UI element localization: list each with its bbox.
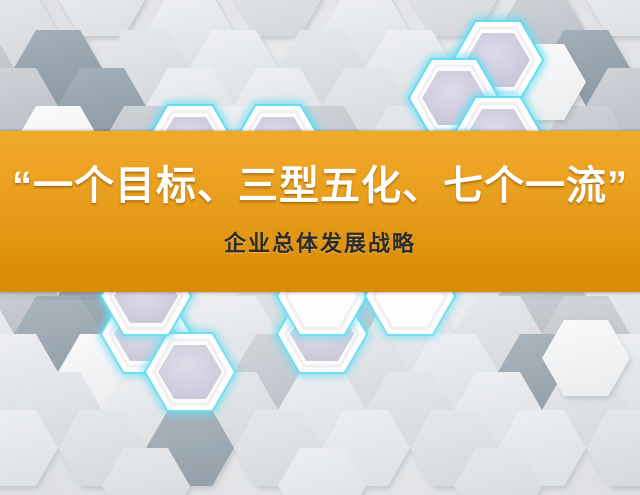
page-subtitle: 企业总体发展战略 [224,226,416,258]
banner-content: “一个目标、三型五化、七个一流” 企业总体发展战略 [0,131,640,292]
page-title: “一个目标、三型五化、七个一流” [12,165,628,207]
title-banner: “一个目标、三型五化、七个一流” 企业总体发展战略 [0,131,640,292]
slide-canvas: “一个目标、三型五化、七个一流” 企业总体发展战略 [0,0,640,495]
